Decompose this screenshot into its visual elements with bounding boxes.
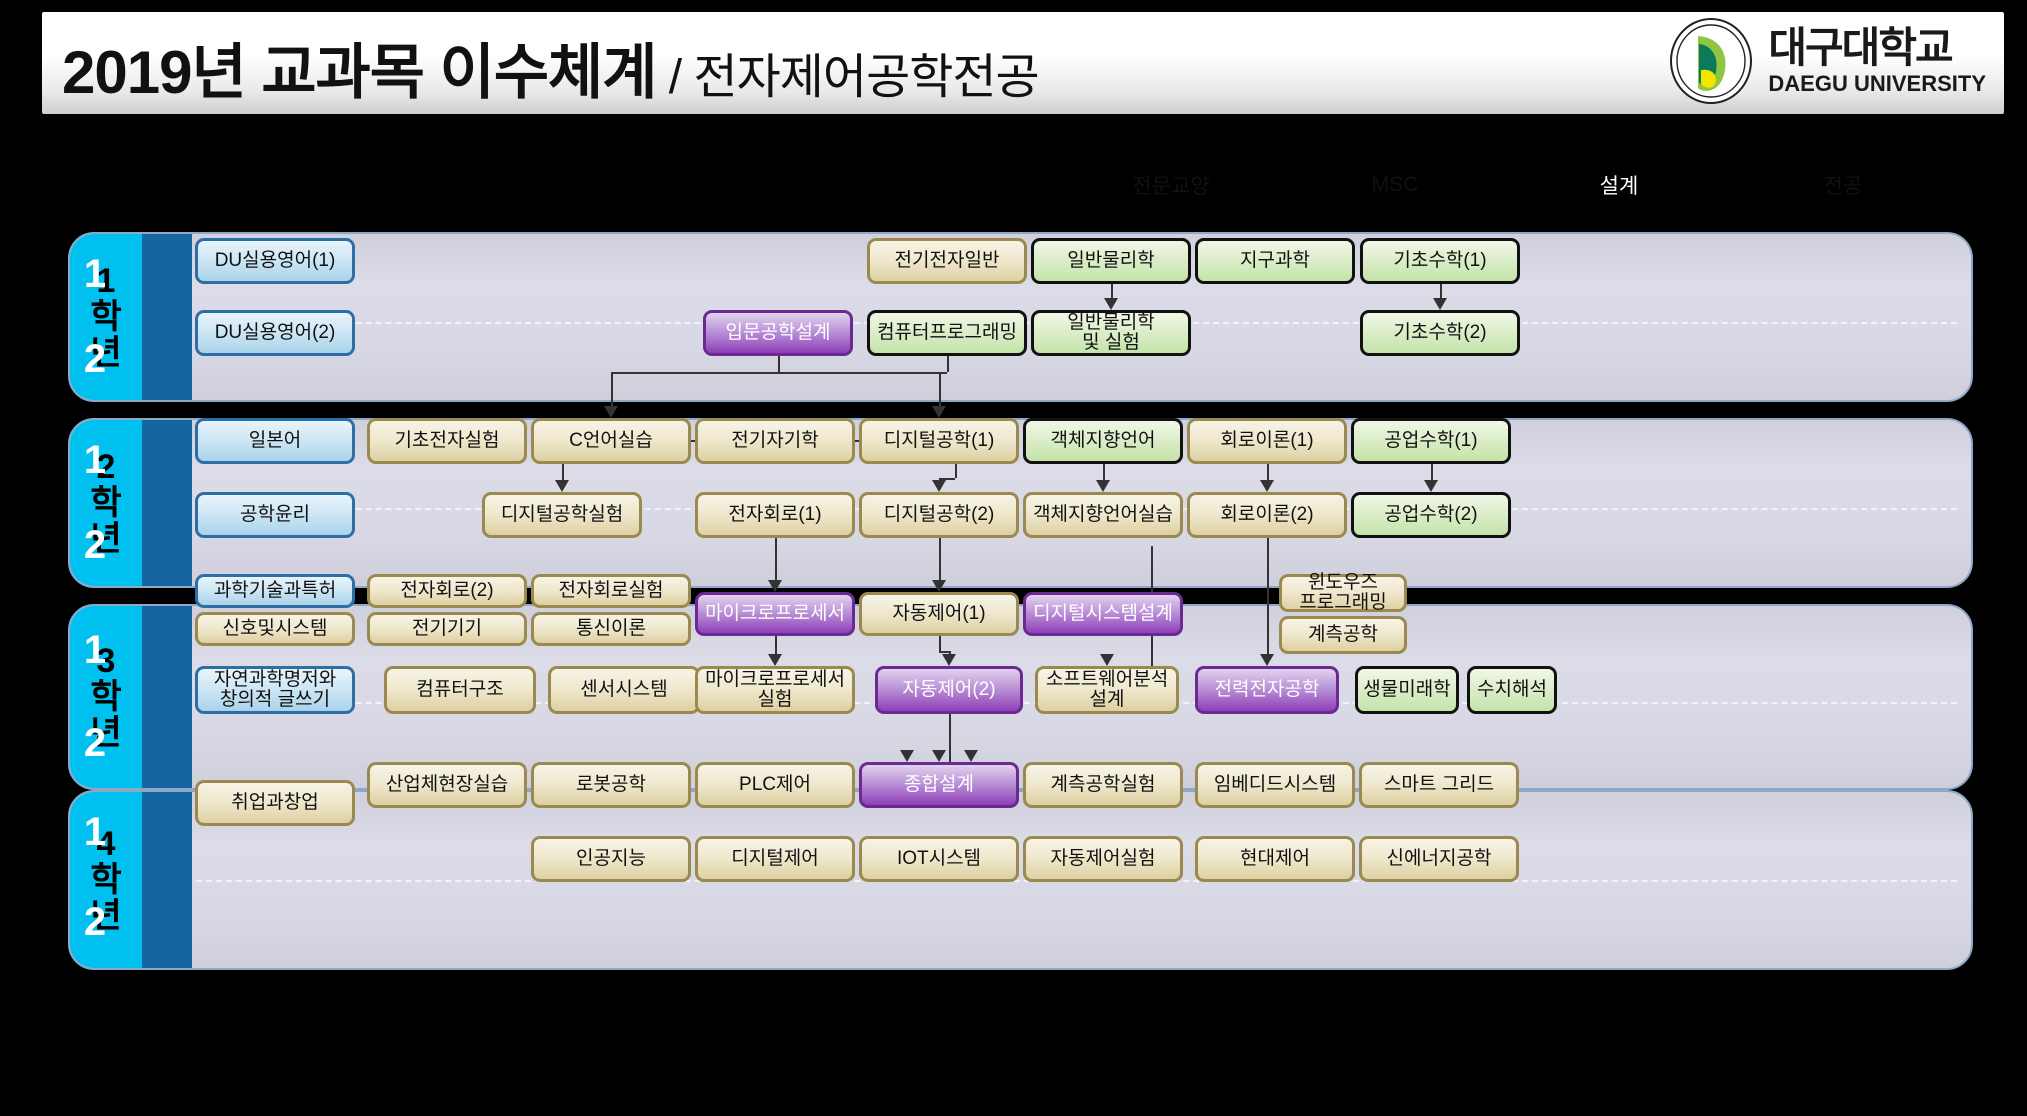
legend-item-msc: MSC <box>1290 167 1500 203</box>
course-box[interactable]: 회로이론(1) <box>1187 418 1347 464</box>
connector-line <box>611 372 947 374</box>
connector-line <box>947 356 949 372</box>
legend: 전문교양 MSC 설계 전공 <box>1066 167 1948 203</box>
page-header: 2019년 교과목 이수체계 / 전자제어공학전공 대구대학교 DAEGU UN… <box>42 12 2004 114</box>
legend-item-major: 전공 <box>1738 167 1948 203</box>
course-box[interactable]: 디지털시스템설계 <box>1023 592 1183 636</box>
connector-line <box>611 372 613 406</box>
course-box[interactable]: 공학윤리 <box>195 492 355 538</box>
course-box[interactable]: PLC제어 <box>695 762 855 808</box>
course-box[interactable]: 기초전자실험 <box>367 418 527 464</box>
connector-line <box>939 636 941 651</box>
course-box[interactable]: 마이크로프로세서 <box>695 592 855 636</box>
year-3-semester-bar <box>142 606 192 788</box>
course-box[interactable]: 과학기술과특허 <box>195 574 355 608</box>
connector-line <box>1440 284 1442 298</box>
arrow-head <box>1096 480 1110 492</box>
year-3-semester-1-label: 1 <box>70 628 120 673</box>
connector-line <box>1267 606 1269 654</box>
course-box[interactable]: 종합설계 <box>859 762 1019 808</box>
page-title: 2019년 교과목 이수체계 / 전자제어공학전공 <box>62 24 1039 111</box>
course-box[interactable]: 객체지향언어실습 <box>1023 492 1183 538</box>
course-box[interactable]: DU실용영어(2) <box>195 310 355 356</box>
arrow-head <box>1260 654 1274 666</box>
course-box[interactable]: 전자회로실험 <box>531 574 691 608</box>
course-box[interactable]: 임베디드시스템 <box>1195 762 1355 808</box>
connector-line <box>939 372 941 406</box>
course-box[interactable]: 디지털공학(1) <box>859 418 1019 464</box>
year-1-semester-1-label: 1 <box>70 252 120 297</box>
university-logo: 대구대학교 DAEGU UNIVERSITY <box>1668 18 1986 104</box>
course-box[interactable]: 자연과학명저와창의적 글쓰기 <box>195 666 355 714</box>
arrow-head <box>942 654 956 666</box>
year-4-semester-2-label: 2 <box>70 900 120 945</box>
course-box[interactable]: 디지털공학(2) <box>859 492 1019 538</box>
year-4-semester-bar <box>142 792 192 968</box>
course-box[interactable]: 기초수학(2) <box>1360 310 1520 356</box>
course-box[interactable]: 전기기기 <box>367 612 527 646</box>
course-box[interactable]: 인공지능 <box>531 836 691 882</box>
course-box[interactable]: DU실용영어(1) <box>195 238 355 284</box>
course-box[interactable]: 계측공학실험 <box>1023 762 1183 808</box>
course-box[interactable]: 자동제어(1) <box>859 592 1019 636</box>
year-1-semester-2-label: 2 <box>70 337 120 382</box>
arrow-head <box>555 480 569 492</box>
course-box[interactable]: 컴퓨터구조 <box>384 666 536 714</box>
title-separator: / <box>656 51 693 104</box>
course-box[interactable]: 센서시스템 <box>548 666 700 714</box>
course-box[interactable]: 현대제어 <box>1195 836 1355 882</box>
course-box[interactable]: 일반물리학 <box>1031 238 1191 284</box>
course-box[interactable]: 디지털제어 <box>695 836 855 882</box>
course-box[interactable]: 회로이론(2) <box>1187 492 1347 538</box>
logo-text-korean: 대구대학교 <box>1768 27 1986 69</box>
arrow-head <box>768 580 782 592</box>
course-box[interactable]: 윈도우즈프로그래밍 <box>1279 574 1407 612</box>
arrow-head <box>964 750 978 762</box>
course-box[interactable]: 전력전자공학 <box>1195 666 1339 714</box>
course-box[interactable]: 취업과창업 <box>195 780 355 826</box>
course-box[interactable]: 수치해석 <box>1467 666 1557 714</box>
arrow-head <box>604 406 618 418</box>
arrow-head <box>1104 298 1118 310</box>
connector-line <box>939 372 947 374</box>
course-box[interactable]: 객체지향언어 <box>1023 418 1183 464</box>
connector-line <box>955 464 957 478</box>
title-major: 전자제어공학전공 <box>693 51 1038 104</box>
title-year: 2019년 교과목 이수체계 <box>62 39 656 106</box>
year-2-semester-1-label: 1 <box>70 438 120 483</box>
course-box[interactable]: 소프트웨어분석설계 <box>1035 666 1179 714</box>
arrow-head <box>932 406 946 418</box>
course-box[interactable]: 신호및시스템 <box>195 612 355 646</box>
course-box[interactable]: 입문공학설계 <box>703 310 853 356</box>
course-box[interactable]: 전기전자일반 <box>867 238 1027 284</box>
arrow-head <box>932 480 946 492</box>
connector-line <box>1267 538 1269 606</box>
course-box[interactable]: 자동제어실험 <box>1023 836 1183 882</box>
curriculum-diagram: 2019년 교과목 이수체계 / 전자제어공학전공 대구대학교 DAEGU UN… <box>0 0 2027 1116</box>
course-box[interactable]: 계측공학 <box>1279 616 1407 654</box>
course-box[interactable]: 전자회로(1) <box>695 492 855 538</box>
course-box[interactable]: 디지털공학실험 <box>482 492 642 538</box>
arrow-head <box>900 750 914 762</box>
course-box[interactable]: 마이크로프로세서실험 <box>695 666 855 714</box>
connector-line <box>778 356 780 372</box>
course-box[interactable]: 컴퓨터프로그래밍 <box>867 310 1027 356</box>
arrow-head <box>1433 298 1447 310</box>
course-box[interactable]: 공업수학(2) <box>1351 492 1511 538</box>
legend-item-general-education: 전문교양 <box>1066 167 1276 203</box>
arrow-head <box>932 580 946 592</box>
course-box[interactable]: 공업수학(1) <box>1351 418 1511 464</box>
course-box[interactable]: 지구과학 <box>1195 238 1355 284</box>
year-4-semester-1-label: 1 <box>70 810 120 855</box>
arrow-head <box>768 654 782 666</box>
connector-line <box>1431 464 1433 480</box>
connector-line <box>1111 284 1113 298</box>
arrow-head <box>1424 480 1438 492</box>
course-box[interactable]: 전기자기학 <box>695 418 855 464</box>
year-1-semester-bar <box>142 234 192 400</box>
arrow-head <box>932 750 946 762</box>
connector-line <box>939 651 949 653</box>
course-box[interactable]: 통신이론 <box>531 612 691 646</box>
course-box[interactable]: 로봇공학 <box>531 762 691 808</box>
connector-line <box>1267 464 1269 480</box>
connector-line <box>775 636 777 654</box>
course-box[interactable]: C언어실습 <box>531 418 691 464</box>
course-box[interactable]: 기초수학(1) <box>1360 238 1520 284</box>
year-3-semester-2-label: 2 <box>70 721 120 766</box>
connector-line <box>939 538 941 580</box>
legend-item-design: 설계 <box>1514 167 1724 203</box>
course-box[interactable]: 생물미래학 <box>1355 666 1459 714</box>
year-2-semester-2-label: 2 <box>70 523 120 568</box>
course-box[interactable]: 전자회로(2) <box>367 574 527 608</box>
arrow-head <box>1100 654 1114 666</box>
course-box[interactable]: 신에너지공학 <box>1359 836 1519 882</box>
course-box[interactable]: 일본어 <box>195 418 355 464</box>
university-seal-icon <box>1668 18 1754 104</box>
course-box[interactable]: 일반물리학및 실험 <box>1031 310 1191 356</box>
logo-text-english: DAEGU UNIVERSITY <box>1768 73 1986 95</box>
arrow-head <box>1260 480 1274 492</box>
course-box[interactable]: 산업체현장실습 <box>367 762 527 808</box>
year-2-semester-bar <box>142 420 192 586</box>
connector-line <box>775 538 777 580</box>
course-box[interactable]: IOT시스템 <box>859 836 1019 882</box>
connector-line <box>1103 464 1105 480</box>
course-box[interactable]: 스마트 그리드 <box>1359 762 1519 808</box>
course-box[interactable]: 자동제어(2) <box>875 666 1023 714</box>
